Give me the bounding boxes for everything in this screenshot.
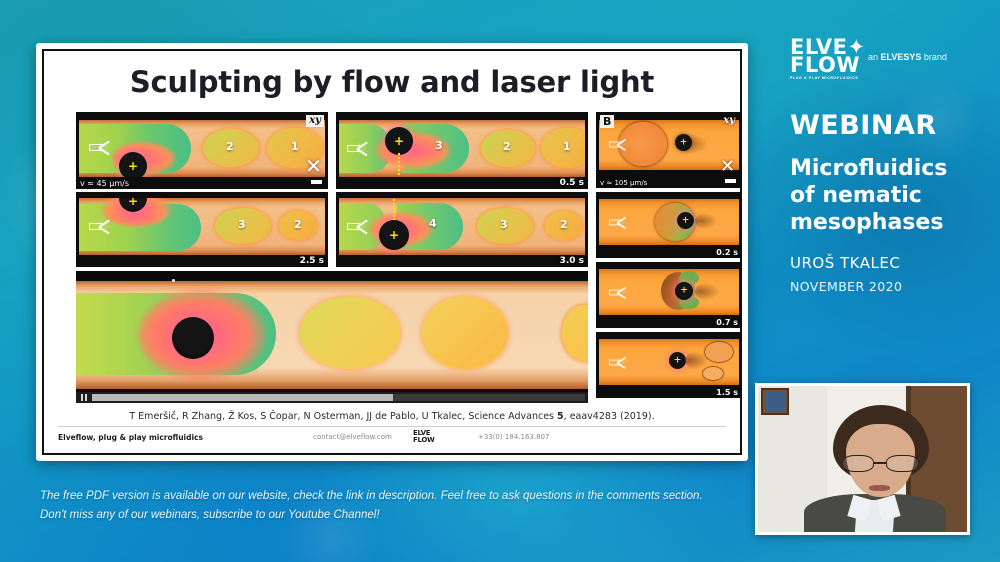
footer-brand-text: Elveflow, plug & play microfluidics [58, 433, 203, 442]
flow-direction-arrow [89, 220, 111, 233]
scale-bar [311, 180, 322, 184]
laser-spot: + [119, 152, 147, 177]
panel-letter-label: B [600, 115, 614, 128]
citation-volume: 5 [557, 411, 564, 422]
footer-logo-line2: FLOW [413, 436, 434, 444]
webcam-speaker-glasses [842, 455, 919, 473]
droplet-label: 3 [500, 218, 508, 231]
caption-line-2: Don't miss any of our webinars, subscrib… [40, 506, 740, 525]
laser-spot: + [675, 282, 693, 300]
webcam-speaker-mouth [869, 485, 890, 491]
nematic-droplet [705, 342, 733, 362]
promo-caption: The free PDF version is available on our… [40, 487, 740, 525]
slide-border: Sculpting by flow and laser light 2 1 + [42, 49, 742, 455]
scale-bar [725, 179, 736, 183]
glasses-bridge [874, 462, 886, 464]
laser-spot: + [669, 352, 686, 369]
flow-direction-arrow [89, 141, 111, 154]
logo-line2: FLOW [790, 53, 860, 77]
droplet-label: 1 [291, 140, 299, 153]
subject-line-3: mesophases [790, 210, 943, 235]
micrograph-panel-a2: 3 2 1 + 0.5 s [336, 112, 588, 189]
footer-phone: +33(0) 184.163.807 [478, 433, 549, 441]
laser-spot [172, 317, 214, 359]
webinar-subject: Microfluidics of nematic mesophases [790, 155, 995, 236]
flow-direction-arrow [609, 217, 627, 228]
xy-view-label: xy [306, 115, 324, 127]
citation-suffix: , eaav4283 (2019). [564, 411, 655, 422]
droplet-label: 3 [238, 218, 246, 231]
speaker-name: UROŠ TKALEC [790, 254, 995, 272]
elvesys-brand-line: an ELVESYS brand [868, 52, 947, 62]
webinar-video-frame: Sculpting by flow and laser light 2 1 + [0, 0, 1000, 562]
nematic-droplet [703, 367, 723, 380]
laser-spot: + [385, 127, 413, 155]
timestamp-label: 0.2 s [716, 248, 738, 257]
timestamp-label: 0.5 s [560, 178, 584, 188]
speaker-webcam-overlay[interactable] [755, 383, 970, 535]
webinar-info-panel: ELVE✦ FLOW PLUG & PLAY MICROFLUIDICS an … [790, 38, 995, 294]
velocity-label: v ≈ 105 µm/s [600, 179, 647, 187]
subject-line-1: Microfluidics [790, 156, 947, 181]
droplet-label: 2 [294, 218, 302, 231]
droplet-label: 1 [563, 140, 571, 153]
nematic-droplet [300, 297, 400, 369]
flow-direction-arrow [347, 142, 369, 155]
webinar-heading: WEBINAR [790, 110, 995, 141]
micrograph-video-panel[interactable] [76, 271, 588, 403]
micrograph-panel-a3: 3 2 + 2.5 s [76, 192, 328, 267]
brand-suffix: brand [921, 52, 947, 62]
micrograph-panel-b4: + 1.5 s [596, 332, 742, 398]
crossed-polarizers-icon: ✕ [305, 158, 322, 175]
xy-view-label: xy [720, 115, 738, 127]
droplet-label: 2 [503, 140, 511, 153]
micrograph-panel-b1: + B xy ✕ v ≈ 105 µm/s [596, 112, 742, 188]
laser-spot: + [675, 134, 692, 151]
timestamp-label: 2.5 s [300, 256, 324, 266]
glasses-lens-right [886, 455, 918, 473]
flow-direction-arrow [347, 220, 369, 233]
laser-path-indicator [398, 153, 400, 175]
figure-citation: T Emeršič, R Zhang, Ž Kos, S Čopar, N Os… [44, 411, 740, 422]
brand-name: ELVESYS [881, 52, 922, 62]
webcam-picture-frame [761, 388, 789, 415]
footer-elveflow-logo: ELVE FLOW [413, 430, 434, 444]
presentation-slide: Sculpting by flow and laser light 2 1 + [36, 43, 748, 461]
droplet-label: 4 [429, 217, 437, 230]
brand-prefix: an [868, 52, 881, 62]
droplet-label: 2 [226, 140, 234, 153]
laser-path-indicator [393, 198, 395, 220]
video-progress-fill [92, 394, 393, 401]
focus-marker [172, 279, 175, 282]
micrograph-panel-a1: 2 1 + xy ✕ v ≈ 45 µm/s [76, 112, 328, 189]
nematic-droplet [562, 305, 588, 361]
slide-footer: Elveflow, plug & play microfluidics cont… [58, 426, 726, 447]
crossed-polarizers-icon: ✕ [719, 158, 736, 175]
velocity-label: v ≈ 45 µm/s [80, 179, 129, 188]
nematic-droplet [422, 297, 508, 369]
micrograph-panel-a4: 4 3 2 + 3.0 s [336, 192, 588, 267]
droplet-label: 3 [435, 139, 443, 152]
pause-button[interactable] [76, 392, 92, 403]
elveflow-logo-block: ELVE✦ FLOW PLUG & PLAY MICROFLUIDICS an … [790, 38, 995, 80]
timestamp-label: 0.7 s [716, 318, 738, 327]
micrograph-panel-b3: + 0.7 s [596, 262, 742, 328]
timestamp-label: 1.5 s [716, 388, 738, 397]
slide-title: Sculpting by flow and laser light [44, 65, 740, 99]
footer-email: contact@elveflow.com [313, 433, 392, 441]
droplet-label: 2 [560, 218, 568, 231]
laser-spot: + [677, 212, 694, 229]
glasses-lens-left [842, 455, 874, 473]
flow-direction-arrow [609, 357, 627, 368]
flow-direction-arrow [609, 287, 627, 298]
video-progress-bar[interactable] [92, 394, 585, 401]
micrograph-panel-b2: + 0.2 s [596, 192, 742, 258]
elveflow-wordmark: ELVE✦ FLOW [790, 38, 860, 74]
flow-direction-arrow [609, 139, 627, 150]
subject-line-2: of nematic [790, 183, 922, 208]
laser-spot: + [379, 220, 409, 250]
timestamp-label: 3.0 s [560, 256, 584, 266]
video-playback-bar[interactable] [76, 392, 588, 403]
citation-prefix: T Emeršič, R Zhang, Ž Kos, S Čopar, N Os… [129, 411, 557, 422]
webinar-date: NOVEMBER 2020 [790, 279, 995, 294]
caption-line-1: The free PDF version is available on our… [40, 487, 740, 506]
